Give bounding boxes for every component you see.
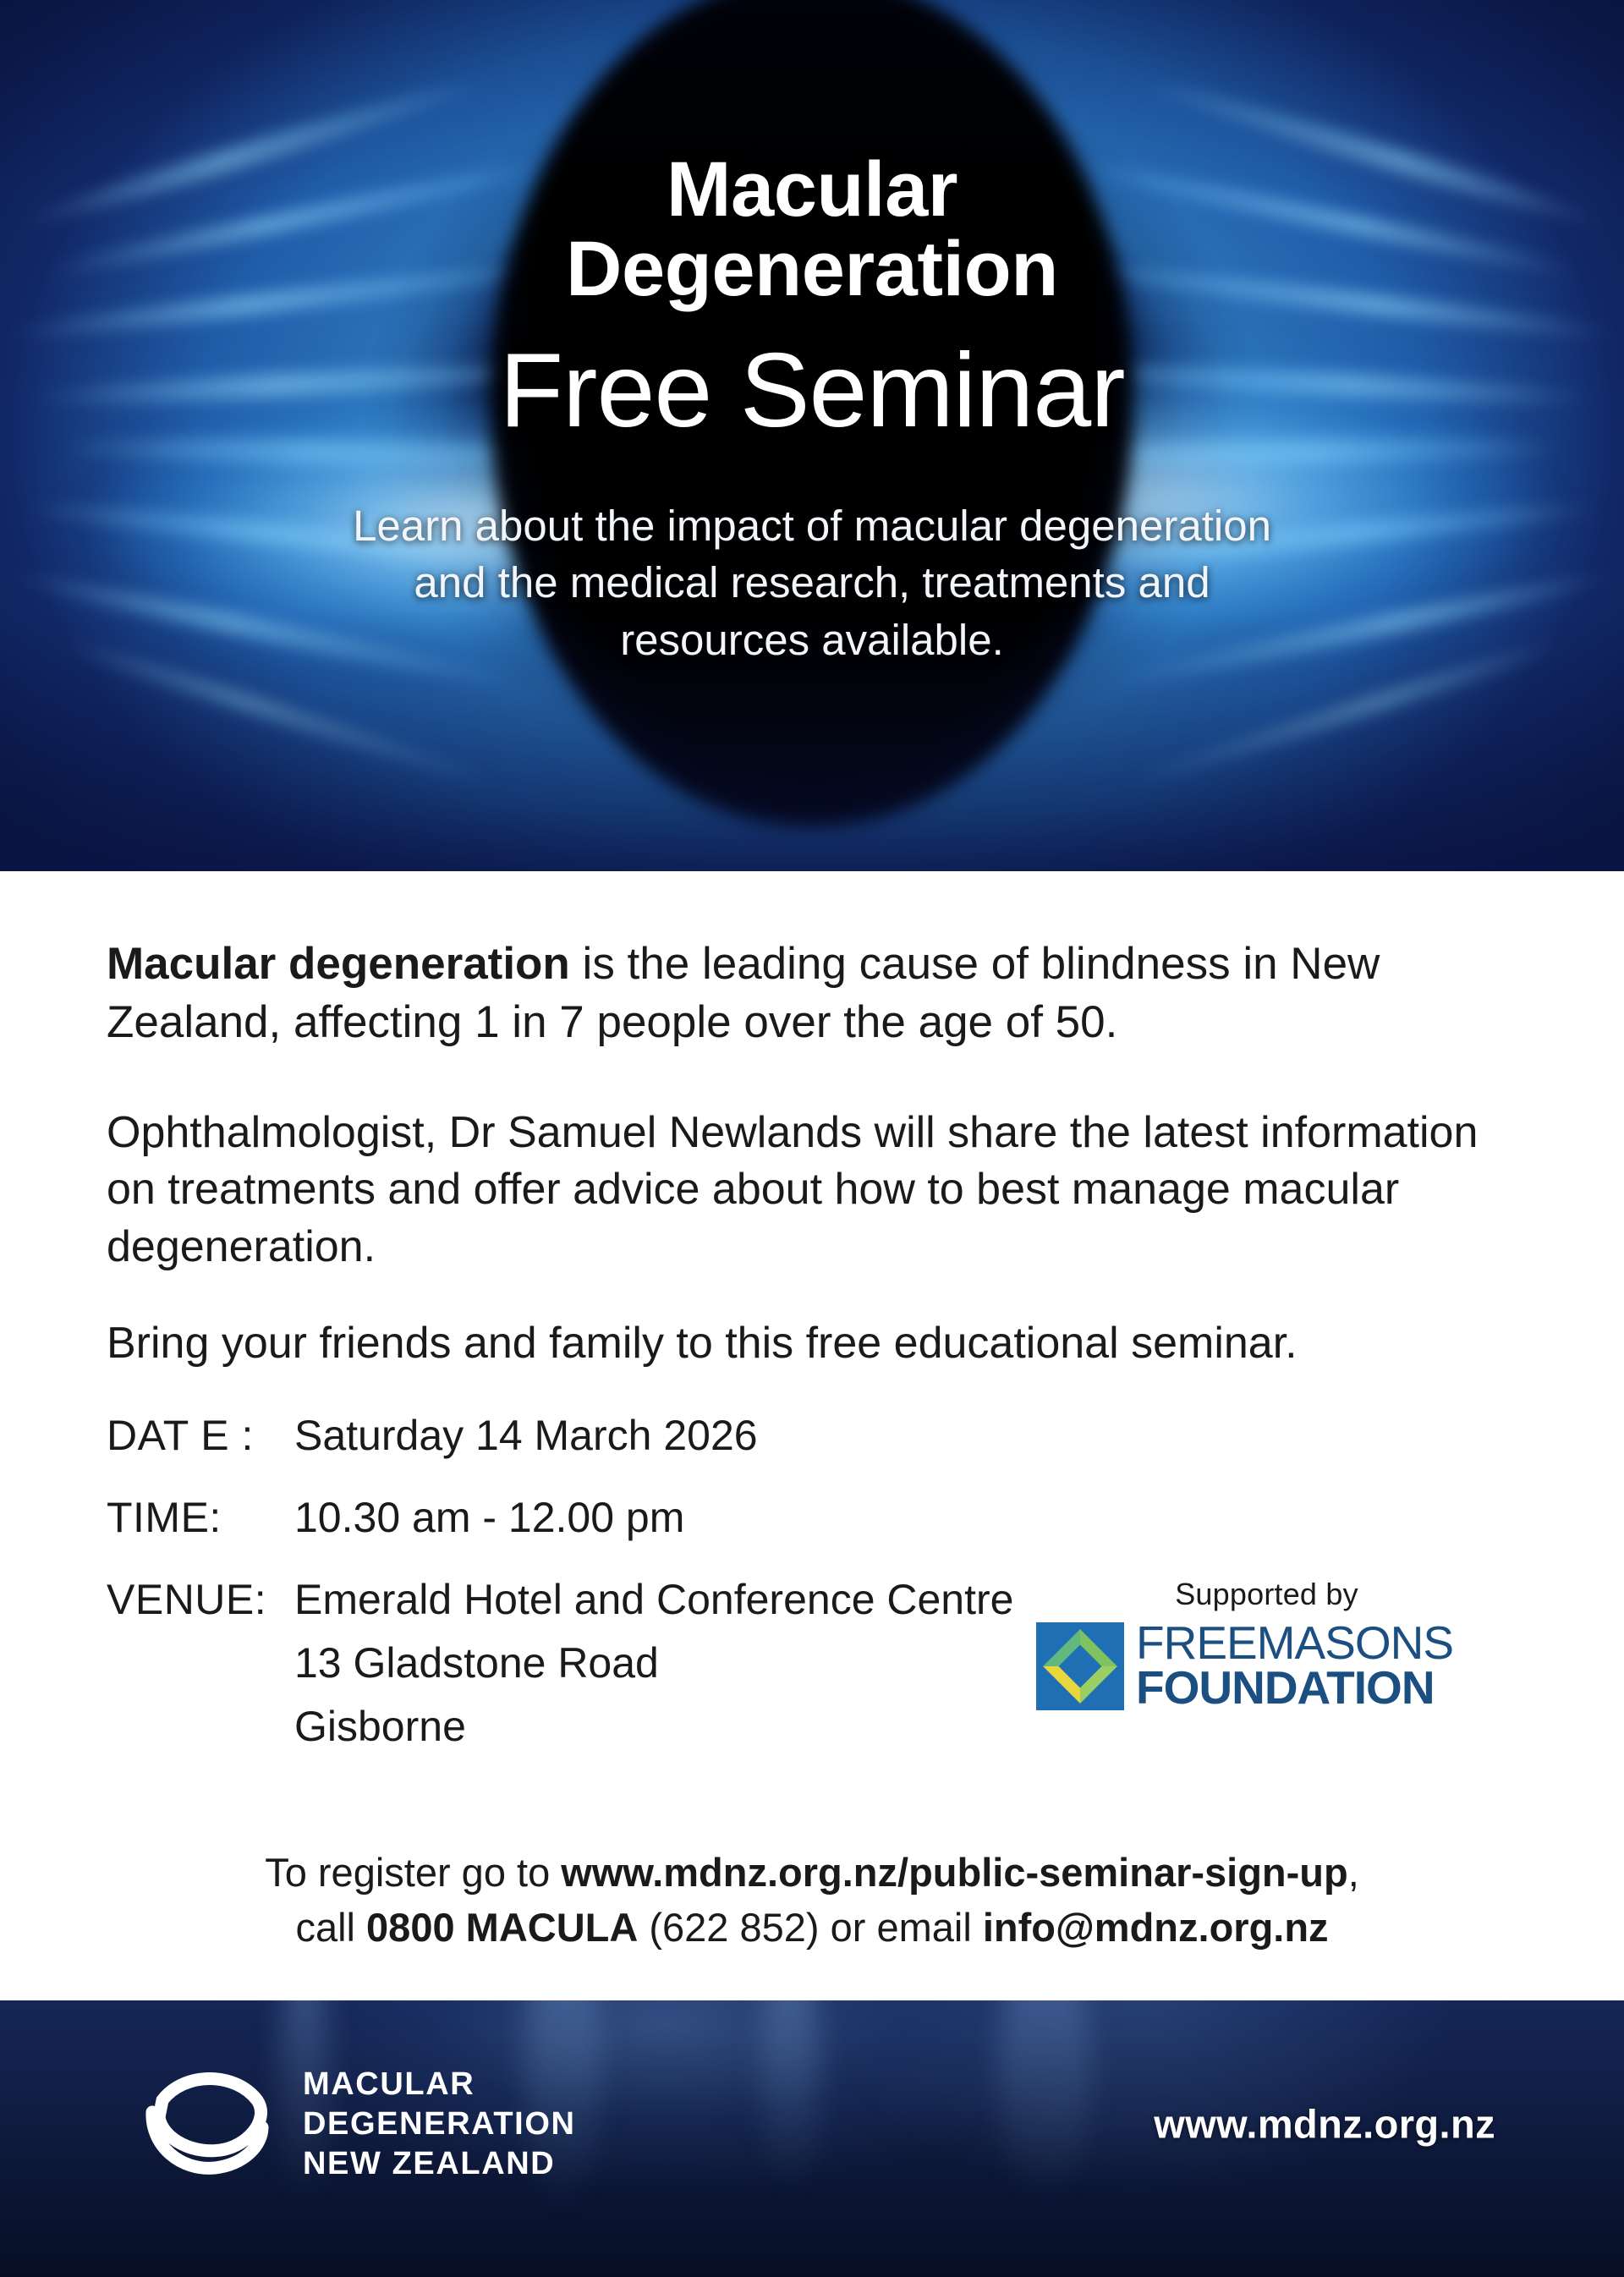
tagline-line-2: and the medical research, treatments and (0, 554, 1624, 612)
title-line-1: Macular (0, 151, 1624, 230)
time-value-text: 10.30 am - 12.00 pm (294, 1494, 684, 1541)
venue-label: VENUE: (107, 1575, 294, 1625)
email-mid: or email (820, 1905, 983, 1950)
poster-header: Macular Degeneration Free Seminar Learn … (0, 0, 1624, 871)
lead-paragraph: Macular degeneration is the leading caus… (107, 935, 1517, 1052)
email-address[interactable]: info@mdnz.org.nz (983, 1905, 1329, 1950)
footer-website-url[interactable]: www.mdnz.org.nz (1154, 2100, 1495, 2147)
venue-value-text: Emerald Hotel and Conference Centre (294, 1576, 1013, 1623)
poster-body: Macular degeneration is the leading caus… (0, 871, 1624, 2000)
poster-title: Macular Degeneration (0, 151, 1624, 310)
org-line-1: MACULAR (303, 2065, 576, 2104)
poster-tagline: Learn about the impact of macular degene… (0, 497, 1624, 669)
mdnz-wordmark: MACULAR DEGENERATION NEW ZEALAND (303, 2065, 576, 2184)
detail-row-date: DAT E : Saturday 14 March 2026 (107, 1411, 1517, 1461)
registration-block: To register go to www.mdnz.org.nz/public… (0, 1846, 1624, 1956)
org-line-3: NEW ZEALAND (303, 2144, 576, 2184)
register-prefix: To register go to (265, 1850, 561, 1895)
tagline-line-3: resources available. (0, 612, 1624, 669)
supporter-block: Supported by FREEMASONS FOUNDATION (1036, 1577, 1497, 1711)
registration-line-2: call 0800 MACULA (622 852) or email info… (0, 1901, 1624, 1956)
phone-digits: (622 852) (638, 1905, 819, 1950)
date-value-text: Saturday 14 March 2026 (294, 1412, 758, 1459)
mdnz-eye-icon (134, 2061, 276, 2188)
detail-row-time: TIME: 10.30 am - 12.00 pm (107, 1493, 1517, 1543)
poster-footer: MACULAR DEGENERATION NEW ZEALAND www.mdn… (0, 2000, 1624, 2277)
speaker-paragraph: Ophthalmologist, Dr Samuel Newlands will… (107, 1105, 1517, 1276)
freemasons-wordmark: FREEMASONS FOUNDATION (1136, 1621, 1453, 1711)
phone-word[interactable]: 0800 MACULA (366, 1905, 638, 1950)
invite-paragraph: Bring your friends and family to this fr… (107, 1315, 1517, 1373)
freemasons-text: FREEMASONS (1136, 1621, 1453, 1665)
tagline-line-1: Learn about the impact of macular degene… (0, 497, 1624, 555)
register-url[interactable]: www.mdnz.org.nz/public-seminar-sign-up (561, 1850, 1347, 1895)
freemasons-foundation-logo: FREEMASONS FOUNDATION (1036, 1621, 1497, 1711)
foundation-text: FOUNDATION (1136, 1665, 1453, 1711)
poster-subtitle: Free Seminar (0, 335, 1624, 448)
title-line-2: Degeneration (0, 230, 1624, 310)
time-value: 10.30 am - 12.00 pm (294, 1493, 1517, 1543)
supported-by-label: Supported by (1036, 1577, 1497, 1612)
date-label: DAT E : (107, 1411, 294, 1461)
call-prefix: call (295, 1905, 366, 1950)
registration-line-1: To register go to www.mdnz.org.nz/public… (0, 1846, 1624, 1901)
mdnz-logo: MACULAR DEGENERATION NEW ZEALAND (134, 2061, 576, 2188)
diamond-shape (1043, 1629, 1117, 1704)
date-value: Saturday 14 March 2026 (294, 1411, 1517, 1461)
seminar-poster: Macular Degeneration Free Seminar Learn … (0, 0, 1624, 2277)
org-line-2: DEGENERATION (303, 2104, 576, 2144)
freemasons-diamond-icon (1036, 1622, 1124, 1710)
footer-content: MACULAR DEGENERATION NEW ZEALAND www.mdn… (0, 2000, 1624, 2277)
register-suffix: , (1348, 1850, 1359, 1895)
time-label: TIME: (107, 1493, 294, 1543)
header-text-block: Macular Degeneration Free Seminar Learn … (0, 0, 1624, 669)
lead-bold-text: Macular degeneration (107, 939, 570, 989)
